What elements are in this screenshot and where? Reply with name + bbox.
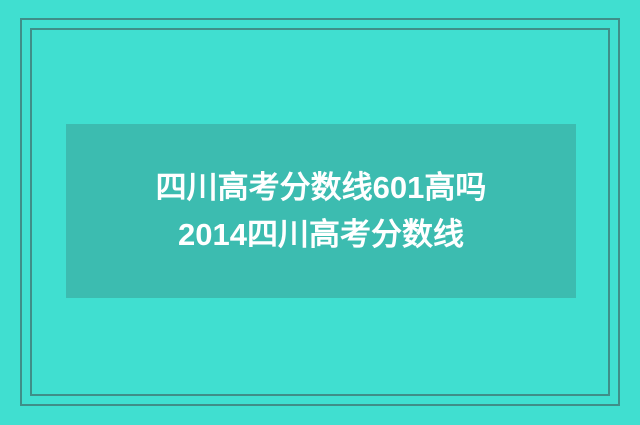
headline-line-2: 2014四川高考分数线	[178, 211, 464, 258]
content-panel: 四川高考分数线601高吗 2014四川高考分数线	[66, 124, 576, 298]
headline-line-1: 四川高考分数线601高吗	[156, 164, 487, 211]
poster-canvas: 四川高考分数线601高吗 2014四川高考分数线	[0, 0, 640, 425]
